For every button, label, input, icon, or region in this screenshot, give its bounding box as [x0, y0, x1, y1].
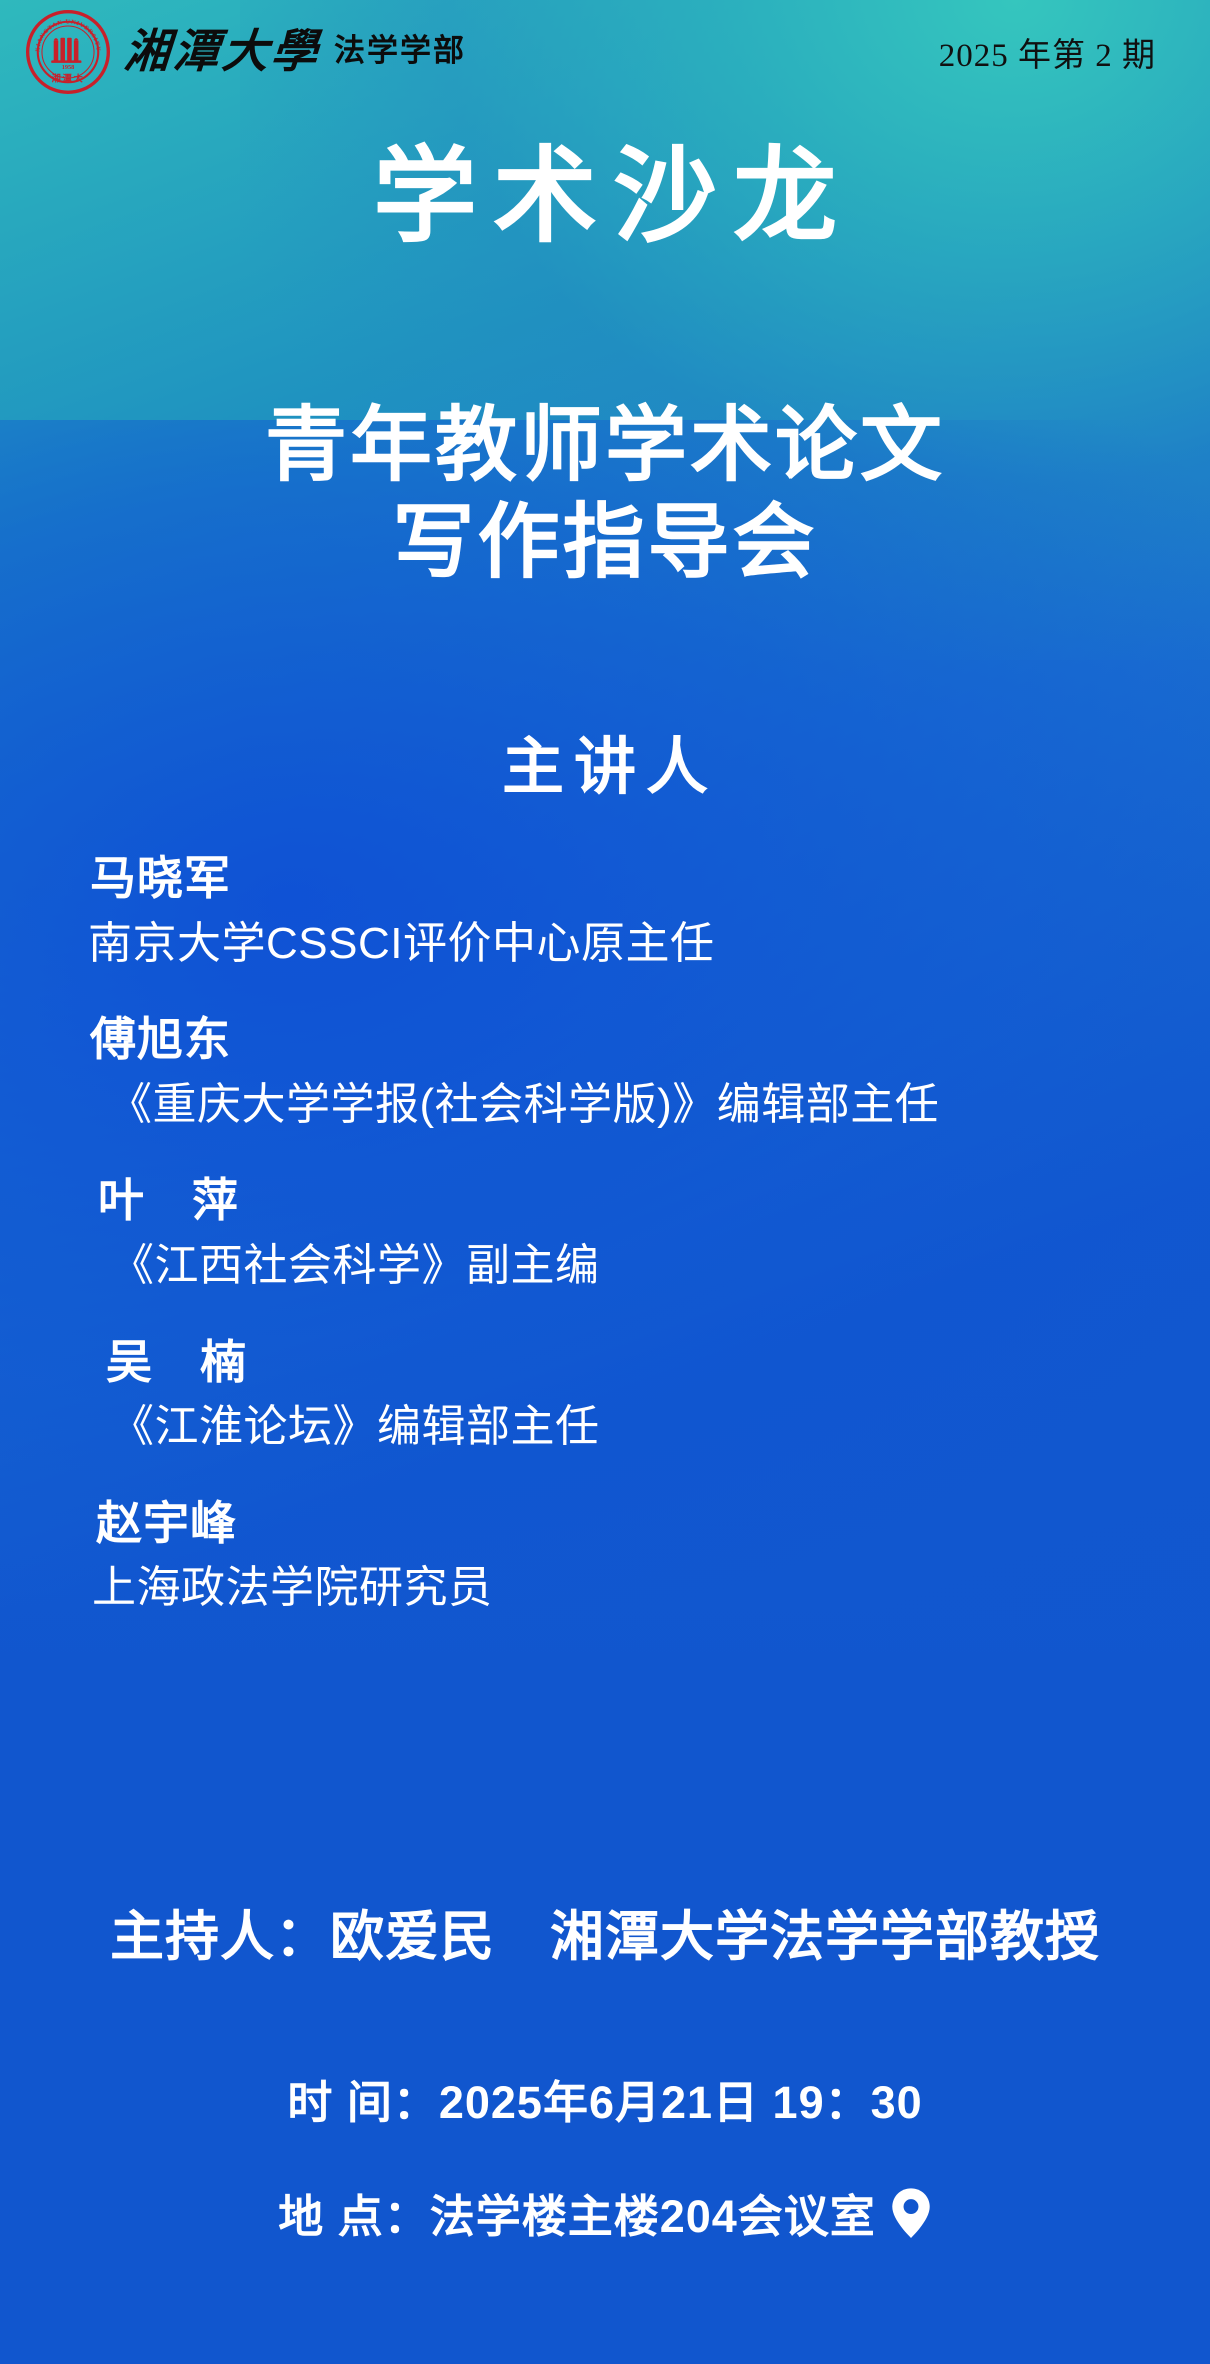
- svg-text:湘潭大: 湘潭大: [52, 72, 85, 83]
- speaker-name: 傅旭东: [0, 1009, 1210, 1070]
- speaker-title: 上海政法学院研究员: [0, 1557, 1210, 1619]
- event-subtitle: 青年教师学术论文 写作指导会: [0, 398, 1210, 592]
- list-item: 吴 楠 《江淮论坛》编辑部主任: [0, 1332, 1210, 1459]
- poster-header: XIANGTAN UNIVERSITY 1958 湘潭大 湘潭大學: [0, 0, 1210, 104]
- speaker-name: 叶 萍: [0, 1170, 1210, 1231]
- list-item: 叶 萍 《江西社会科学》副主编: [0, 1170, 1210, 1297]
- speaker-title: 《重庆大学学报(社会科学版)》编辑部主任: [0, 1074, 1210, 1136]
- event-place: 地 点：法学楼主楼204会议室: [0, 2180, 1210, 2245]
- speaker-name: 赵宇峰: [0, 1493, 1210, 1554]
- speaker-title: 《江淮论坛》编辑部主任: [0, 1396, 1210, 1458]
- speakers-list: 马晓军 南京大学CSSCI评价中心原主任 傅旭东 《重庆大学学报(社会科学版)》…: [0, 848, 1210, 1654]
- speaker-name: 马晓军: [0, 848, 1210, 909]
- university-name: 湘潭大學: [122, 29, 321, 75]
- event-subtitle-line2: 写作指导会: [0, 495, 1210, 592]
- page-title: 学术沙龙: [0, 128, 1210, 268]
- event-subtitle-line1: 青年教师学术论文: [265, 400, 945, 491]
- speaker-title: 南京大学CSSCI评价中心原主任: [0, 913, 1210, 975]
- host-line: 主持人：欧爱民 湘潭大学法学学部教授: [0, 1892, 1210, 1971]
- list-item: 赵宇峰 上海政法学院研究员: [0, 1493, 1210, 1620]
- event-time: 时 间：2025年6月21日 19：30: [0, 2066, 1210, 2131]
- speakers-heading: 主讲人: [0, 716, 1210, 806]
- map-pin-icon: [890, 2187, 932, 2239]
- svg-text:1958: 1958: [62, 64, 75, 71]
- speaker-name: 吴 楠: [0, 1332, 1210, 1393]
- poster-root: XIANGTAN UNIVERSITY 1958 湘潭大 湘潭大學: [0, 0, 1210, 2364]
- event-place-text: 地 点：法学楼主楼204会议室: [278, 2180, 876, 2245]
- speaker-title: 《江西社会科学》副主编: [0, 1235, 1210, 1297]
- department-name: 法学学部: [334, 35, 466, 69]
- list-item: 马晓军 南京大学CSSCI评价中心原主任: [0, 848, 1210, 975]
- university-seal-icon: XIANGTAN UNIVERSITY 1958 湘潭大: [26, 10, 110, 94]
- issue-number: 2025 年第 2 期: [939, 28, 1156, 76]
- list-item: 傅旭东 《重庆大学学报(社会科学版)》编辑部主任: [0, 1009, 1210, 1136]
- university-brand: XIANGTAN UNIVERSITY 1958 湘潭大 湘潭大學: [26, 10, 466, 94]
